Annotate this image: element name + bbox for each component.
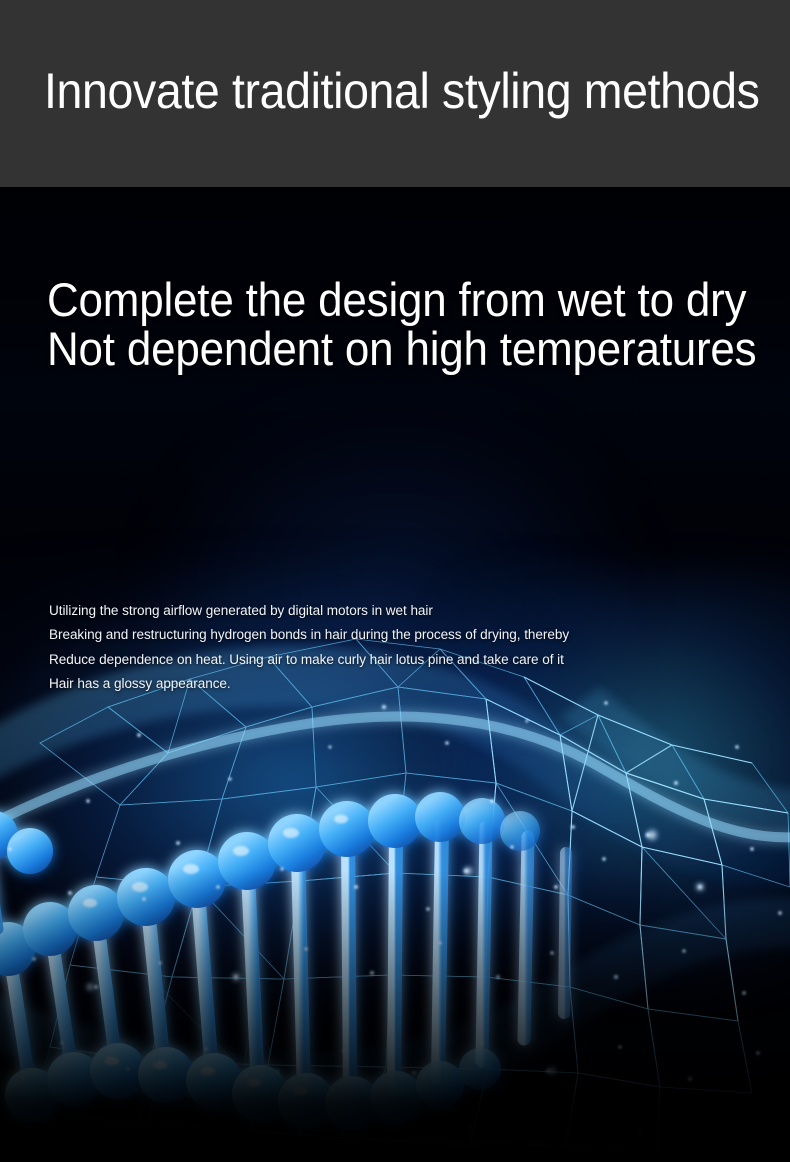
hero-heading-line-2: Not dependent on high temperatures (47, 324, 756, 373)
page-header-bar: Innovate traditional styling methods (0, 0, 790, 187)
product-detail-page: Innovate traditional styling methods (0, 0, 790, 1162)
hero-heading: Complete the design from wet to dry Not … (47, 275, 756, 373)
hero-bottom-fade (0, 870, 790, 1162)
hero-section: Complete the design from wet to dry Not … (0, 187, 790, 1162)
hero-paragraph-line-1: Utilizing the strong airflow generated b… (49, 599, 569, 623)
hero-paragraph-line-3: Reduce dependence on heat. Using air to … (49, 648, 569, 672)
page-title: Innovate traditional styling methods (44, 62, 760, 120)
hero-paragraph-line-4: Hair has a glossy appearance. (49, 672, 569, 696)
hero-paragraph: Utilizing the strong airflow generated b… (49, 599, 569, 696)
hero-paragraph-line-2: Breaking and restructuring hydrogen bond… (49, 623, 569, 647)
hero-heading-line-1: Complete the design from wet to dry (47, 275, 756, 324)
